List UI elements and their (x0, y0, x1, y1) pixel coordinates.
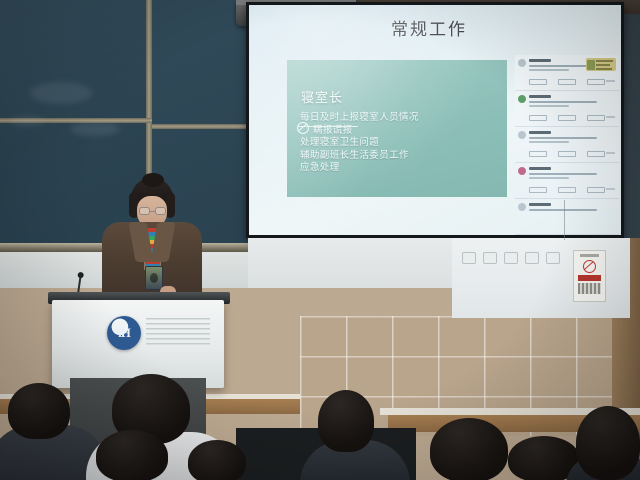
magnet-row (462, 252, 560, 264)
presenter (96, 178, 208, 300)
post-actions (529, 115, 605, 121)
like-icon (558, 115, 576, 121)
post-timestamp (606, 152, 615, 154)
promo-line (596, 60, 613, 62)
school-emblem: iH (107, 316, 141, 350)
post-author (529, 167, 551, 170)
post-actions (529, 151, 605, 157)
feed-post (515, 55, 619, 91)
post-author (529, 131, 551, 134)
avatar (518, 203, 526, 211)
projection-screen: 常规工作 寝室长 每日及时上报寝室人员情况 瞒报谎报 处理寝室卫生问题 辅助副班… (246, 2, 624, 238)
student-head (576, 406, 640, 480)
avatar (518, 95, 526, 103)
share-icon (587, 187, 605, 193)
post-text-second-line (529, 177, 569, 179)
poster-footer-graphic (578, 283, 601, 294)
promo-line (596, 64, 610, 66)
comment-icon (529, 115, 547, 121)
blackboard-divider-horizontal-right (152, 124, 248, 129)
no-smoking-poster (573, 250, 606, 302)
feed-post (515, 127, 619, 163)
post-text (529, 137, 597, 139)
post-text (529, 209, 597, 211)
magnet (483, 252, 497, 264)
slide-bullet-list: 每日及时上报寝室人员情况 瞒报谎报 处理寝室卫生问题 辅助副班长生活委员工作 应… (300, 112, 505, 175)
magnet (462, 252, 476, 264)
student-head (96, 430, 168, 480)
slide-content-heading: 寝室长 (301, 87, 343, 106)
post-text-second-line (529, 105, 569, 107)
post-timestamp (606, 80, 615, 82)
post-timestamp (606, 116, 615, 118)
post-text-second-line (529, 141, 569, 143)
promo-line (596, 68, 612, 70)
post-author (529, 203, 551, 206)
emblem-text: iH (118, 325, 130, 341)
classroom-scene: 常规工作 寝室长 每日及时上报寝室人员情况 瞒报谎报 处理寝室卫生问题 辅助副班… (0, 0, 640, 480)
poster-title-bar (580, 254, 599, 257)
post-actions (529, 79, 605, 85)
avatar (518, 167, 526, 175)
magnet (546, 252, 560, 264)
slide-bullet-4: 应急处理 (300, 162, 505, 175)
student-head (430, 418, 508, 480)
like-icon (558, 79, 576, 85)
prohibition-icon (297, 122, 309, 134)
post-text (529, 101, 597, 103)
student-head (318, 390, 374, 452)
magnet (525, 252, 539, 264)
slide-content-box: 寝室长 每日及时上报寝室人员情况 瞒报谎报 处理寝室卫生问题 辅助副班长生活委员… (287, 60, 507, 197)
slide-title: 常规工作 (391, 15, 467, 40)
magnet (504, 252, 518, 264)
podium-vent-lines (146, 318, 210, 348)
post-author (529, 59, 551, 62)
glasses-icon (139, 207, 166, 215)
post-text-second-line (529, 69, 569, 71)
feed-post (515, 199, 619, 235)
id-badge (145, 266, 163, 290)
share-icon (587, 151, 605, 157)
no-smoking-icon (583, 260, 596, 273)
glasses-bridge (150, 211, 155, 212)
student-head (8, 383, 70, 439)
avatar (518, 131, 526, 139)
hanging-wire (564, 200, 565, 240)
feed-post (515, 91, 619, 127)
poster-red-band (578, 275, 601, 281)
strikethrough-line (298, 126, 358, 127)
lens-right (155, 207, 166, 215)
share-icon (587, 79, 605, 85)
like-icon (558, 187, 576, 193)
comment-icon (529, 187, 547, 193)
comment-icon (529, 151, 547, 157)
comment-icon (529, 79, 547, 85)
promo-card (586, 58, 616, 71)
share-icon (587, 115, 605, 121)
slide-bullet-3: 辅助副班长生活委员工作 (300, 150, 505, 163)
avatar (518, 59, 526, 67)
slide-feed-panel (515, 55, 619, 207)
slide-bullet-2: 处理寝室卫生问题 (300, 137, 505, 150)
chalk-smudge (70, 122, 120, 136)
post-actions (529, 187, 605, 193)
lens-left (139, 207, 150, 215)
student-head (188, 440, 246, 480)
chalk-smudge (30, 82, 92, 104)
hair-bun (142, 173, 164, 187)
feed-post (515, 163, 619, 199)
promo-thumbnail (587, 60, 595, 70)
chalk-smudge (10, 116, 44, 126)
slide-bullet-0: 每日及时上报寝室人员情况 (300, 112, 505, 125)
post-timestamp (606, 188, 615, 190)
post-author (529, 95, 551, 98)
like-icon (558, 151, 576, 157)
post-text (529, 173, 597, 175)
